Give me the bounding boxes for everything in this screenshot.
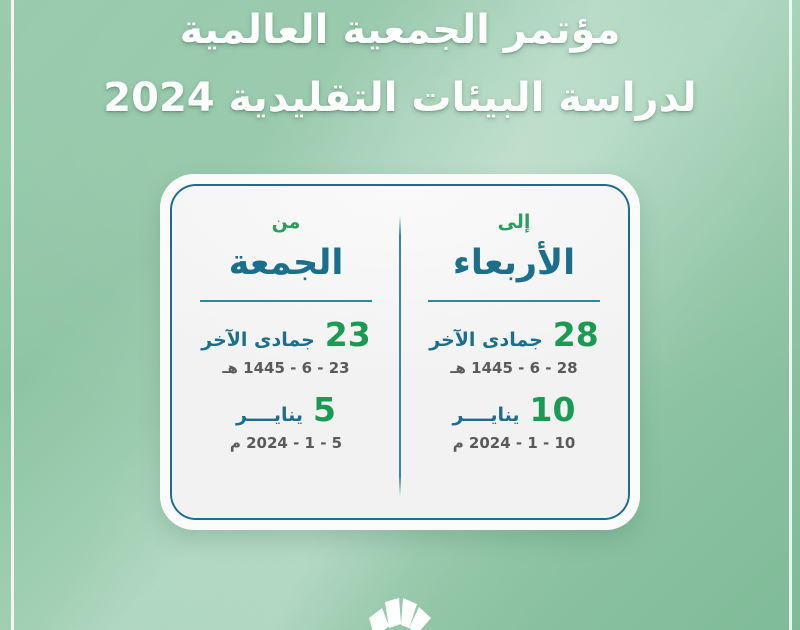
gregorian-month-to: ينايــــر [453,406,520,425]
hijri-numeric-from: 23 - 6 - 1445 هـ [201,359,370,377]
gregorian-main-from: 5 ينايــــر [230,393,342,426]
day-name-from: الجمعة [229,245,344,282]
hijri-month-to: جمادى الآخر [429,331,543,350]
day-name-to: الأربعاء [453,245,575,282]
event-dates-card: إلى الأربعاء 28 جمادى الآخر 28 - 6 - 144… [160,174,640,530]
column-rule-from [200,300,372,302]
hijri-numeric-to: 28 - 6 - 1445 هـ [429,359,598,377]
date-column-to: إلى الأربعاء 28 جمادى الآخر 28 - 6 - 144… [400,186,628,518]
gregorian-numeric-to: 10 - 1 - 2024 م [453,434,576,452]
title-line-1: مؤتمر الجمعية العالمية [40,0,760,64]
hijri-main-to: 28 جمادى الآخر [429,318,598,351]
hijri-date-from: 23 جمادى الآخر 23 - 6 - 1445 هـ [201,318,370,377]
hijri-day-from: 23 [325,318,371,351]
gregorian-date-from: 5 ينايــــر 5 - 1 - 2024 م [230,393,342,452]
column-kicker-from: من [272,212,301,233]
column-kicker-to: إلى [498,212,531,233]
hijri-main-from: 23 جمادى الآخر [201,318,370,351]
gregorian-main-to: 10 ينايــــر [453,393,576,426]
hijri-day-to: 28 [553,318,599,351]
event-dates-card-inner: إلى الأربعاء 28 جمادى الآخر 28 - 6 - 144… [170,184,630,520]
gregorian-date-to: 10 ينايــــر 10 - 1 - 2024 م [453,393,576,452]
hijri-date-to: 28 جمادى الآخر 28 - 6 - 1445 هـ [429,318,598,377]
date-column-from: من الجمعة 23 جمادى الآخر 23 - 6 - 1445 ه… [172,186,400,518]
gregorian-day-from: 5 [313,393,336,426]
title-line-2: لدراسة البيئات التقليدية 2024 [40,64,760,132]
page-title: مؤتمر الجمعية العالمية لدراسة البيئات ال… [0,0,800,132]
column-divider [399,216,401,496]
poster-canvas: مؤتمر الجمعية العالمية لدراسة البيئات ال… [0,0,800,630]
fan-petals-logo-icon [325,578,475,630]
hijri-month-from: جمادى الآخر [201,331,315,350]
gregorian-day-to: 10 [530,393,576,426]
column-rule-to [428,300,600,302]
gregorian-month-from: ينايــــر [236,406,303,425]
gregorian-numeric-from: 5 - 1 - 2024 م [230,434,342,452]
